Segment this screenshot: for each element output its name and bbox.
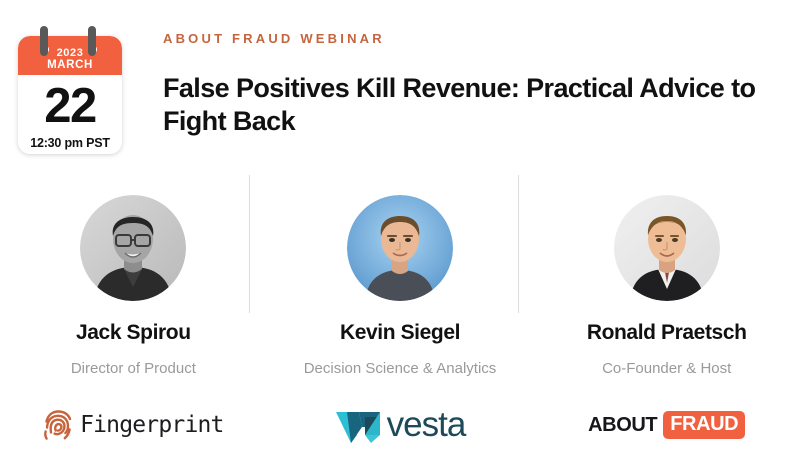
fingerprint-icon [43, 409, 73, 441]
fingerprint-logo: Fingerprint [43, 409, 224, 441]
calendar-card: 2023 MARCH 22 12:30 pm PST [18, 36, 122, 154]
logo-cell-vesta: vesta [267, 395, 534, 455]
speaker-role: Decision Science & Analytics [304, 360, 497, 377]
about-fraud-logo: ABOUT FRAUD [588, 411, 745, 439]
vesta-wordmark: vesta [387, 407, 466, 443]
fingerprint-wordmark: Fingerprint [80, 412, 224, 438]
logos-section: Fingerprint vesta ABOUT FRAUD [0, 395, 800, 455]
calendar-year: 2023 [57, 47, 84, 59]
speakers-section: Jack Spirou Director of Product [0, 175, 800, 390]
calendar-month: MARCH [47, 59, 93, 72]
speaker-card-3: Ronald Praetsch Co-Founder & Host [533, 175, 800, 390]
logo-cell-fingerprint: Fingerprint [0, 395, 267, 455]
avatar [80, 195, 186, 301]
speaker-card-1: Jack Spirou Director of Product [0, 175, 267, 390]
page-title: False Positives Kill Revenue: Practical … [163, 72, 788, 138]
speaker-name: Kevin Siegel [340, 321, 460, 345]
vesta-v-icon [335, 405, 383, 445]
avatar [614, 195, 720, 301]
speaker-name: Ronald Praetsch [587, 321, 747, 345]
calendar-date-icon: 2023 MARCH 22 12:30 pm PST [18, 26, 122, 154]
speaker-role: Co-Founder & Host [602, 360, 731, 377]
about-fraud-word-about: ABOUT [588, 414, 657, 437]
speaker-name: Jack Spirou [76, 321, 191, 345]
calendar-time: 12:30 pm PST [18, 136, 122, 150]
webinar-eyebrow: ABOUT FRAUD WEBINAR [163, 31, 385, 46]
calendar-ring-left-icon [40, 26, 48, 56]
logo-cell-aboutfraud: ABOUT FRAUD [533, 395, 800, 455]
speaker-card-2: Kevin Siegel Decision Science & Analytic… [267, 175, 534, 390]
vesta-logo: vesta [335, 405, 466, 445]
about-fraud-word-fraud: FRAUD [663, 411, 745, 439]
avatar [347, 195, 453, 301]
calendar-day: 22 [18, 80, 122, 132]
calendar-ring-right-icon [88, 26, 96, 56]
header-section: 2023 MARCH 22 12:30 pm PST ABOUT FRAUD W… [0, 0, 800, 170]
webinar-poster: 2023 MARCH 22 12:30 pm PST ABOUT FRAUD W… [0, 0, 800, 471]
calendar-header: 2023 MARCH [18, 36, 122, 75]
speaker-role: Director of Product [71, 360, 196, 377]
